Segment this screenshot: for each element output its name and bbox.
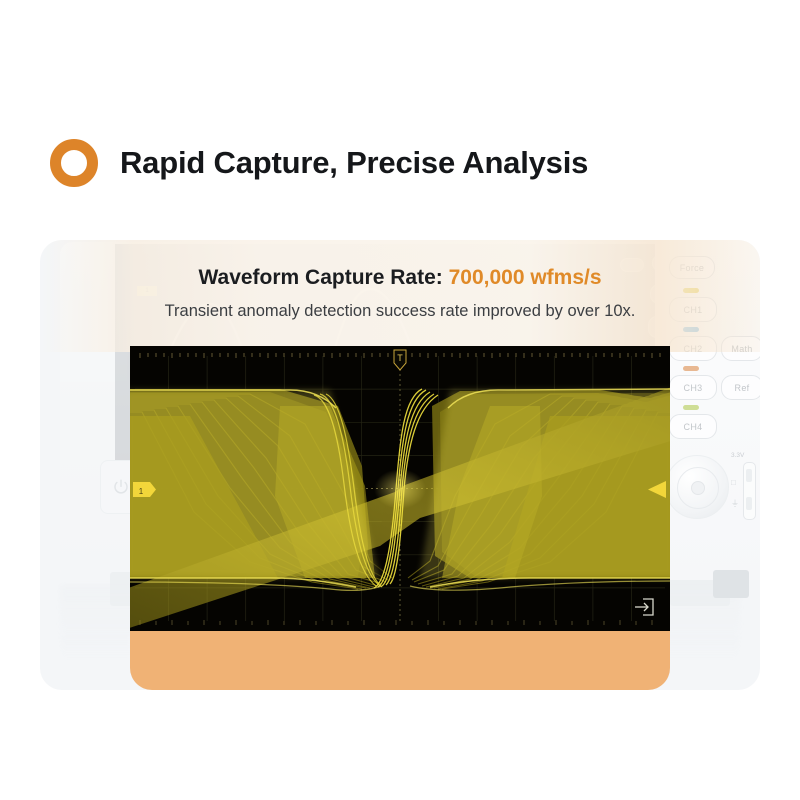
page-title: Rapid Capture, Precise Analysis bbox=[120, 145, 588, 181]
led-ch3 bbox=[683, 366, 699, 371]
overlay-subheadline: Transient anomaly detection success rate… bbox=[40, 302, 760, 321]
multipurpose-knob[interactable] bbox=[665, 455, 729, 519]
bottom-accent-band bbox=[130, 631, 670, 690]
overlay-headline-value: 700,000 wfms/s bbox=[449, 266, 602, 289]
ground-icon: ⏚ bbox=[731, 498, 739, 509]
feature-card: 1 RUN CH1 DC 1M 10.00V 10X 0.2 kHz bbox=[40, 240, 760, 690]
overlay-headline-prefix: Waveform Capture Rate: bbox=[198, 266, 442, 289]
button-ref[interactable]: Ref bbox=[721, 375, 760, 400]
svg-text:1: 1 bbox=[139, 487, 144, 496]
output-slot-tab-upper bbox=[746, 469, 752, 482]
page-root: Rapid Capture, Precise Analysis 1 RUN CH… bbox=[0, 0, 800, 800]
oscilloscope-screen: T 1 bbox=[130, 346, 670, 631]
overlay-text-band: Waveform Capture Rate: 700,000 wfms/s Tr… bbox=[40, 240, 760, 352]
overlay-headline: Waveform Capture Rate: 700,000 wfms/s bbox=[40, 266, 760, 290]
button-ch3[interactable]: CH3 bbox=[669, 375, 717, 400]
output-voltage-label: 3.3V bbox=[731, 452, 744, 459]
square-wave-icon: □ bbox=[731, 478, 736, 487]
page-header: Rapid Capture, Precise Analysis bbox=[50, 125, 750, 200]
svg-text:T: T bbox=[397, 353, 403, 363]
power-icon bbox=[112, 478, 130, 496]
center-glow bbox=[374, 469, 426, 509]
panel-port bbox=[713, 570, 749, 598]
waveform-plot: T 1 bbox=[130, 346, 670, 631]
button-ch4[interactable]: CH4 bbox=[669, 414, 717, 439]
knob-center bbox=[691, 481, 705, 495]
output-connector-slot[interactable] bbox=[743, 462, 756, 520]
ring-icon bbox=[50, 139, 98, 187]
output-slot-tab-lower bbox=[746, 497, 752, 510]
led-ch4 bbox=[683, 405, 699, 410]
